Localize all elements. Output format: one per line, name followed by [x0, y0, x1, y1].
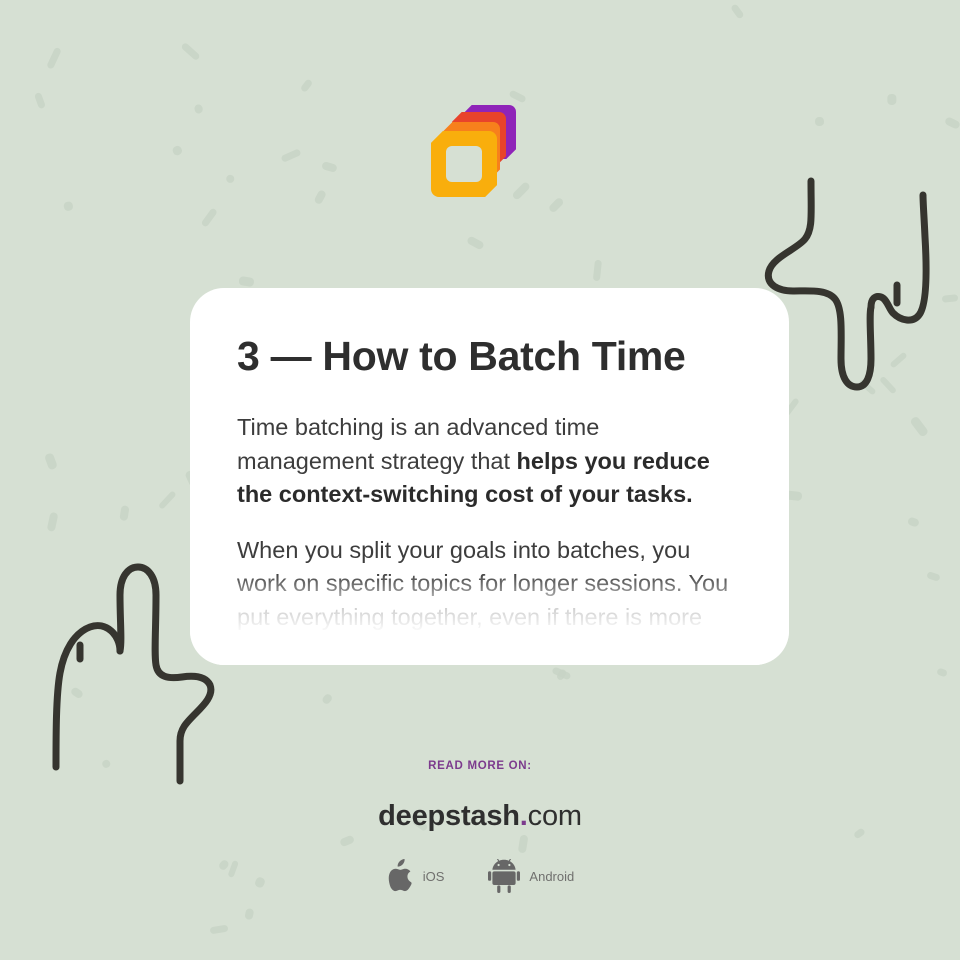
confetti-dash — [321, 161, 338, 172]
confetti-dash — [44, 452, 58, 470]
confetti-dash — [180, 42, 200, 61]
logo-inner-square — [446, 146, 482, 182]
confetti-dash — [201, 207, 218, 227]
paragraph-lead: Time batching is an advanced time manage… — [237, 411, 741, 512]
confetti-dash — [730, 3, 744, 19]
confetti-dash — [910, 415, 929, 437]
confetti-dash — [225, 174, 234, 184]
confetti-dash — [556, 668, 568, 681]
confetti-dash — [815, 117, 825, 126]
page-title: 3 — How to Batch Time — [237, 334, 741, 379]
confetti-dash — [593, 260, 602, 281]
confetti-dash — [926, 571, 941, 582]
confetti-dash — [238, 276, 254, 287]
confetti-dash — [300, 78, 314, 93]
deepstash-wordmark[interactable]: deepstash.com — [0, 802, 960, 831]
confetti-dash — [46, 47, 61, 69]
android-icon — [488, 859, 520, 893]
confetti-dash — [158, 490, 177, 510]
store-label-android: Android — [529, 869, 574, 884]
store-badge-android[interactable]: Android — [488, 859, 574, 893]
apple-icon — [386, 859, 414, 893]
confetti-dash — [194, 104, 204, 115]
confetti-dash — [64, 201, 74, 212]
footer: READ MORE ON: deepstash.com iOS Android — [0, 760, 960, 893]
store-label-ios: iOS — [423, 869, 445, 884]
read-more-label: READ MORE ON: — [0, 760, 960, 772]
deepstash-logo — [430, 105, 516, 197]
confetti-dash — [280, 148, 302, 163]
wordmark-dot: . — [520, 800, 528, 832]
confetti-dash — [244, 908, 254, 920]
confetti-dash — [936, 668, 948, 678]
confetti-dash — [34, 92, 46, 109]
confetti-dash — [887, 94, 896, 105]
confetti-dash — [944, 116, 960, 130]
confetti-dash — [508, 90, 527, 104]
wordmark-name: deepstash — [378, 800, 520, 832]
store-badges: iOS Android — [0, 859, 960, 893]
confetti-dash — [210, 925, 228, 934]
confetti-dash — [313, 189, 327, 205]
confetti-dash — [551, 666, 571, 680]
store-badge-ios[interactable]: iOS — [386, 859, 445, 893]
confetti-dash — [907, 516, 919, 527]
paragraph-body: When you split your goals into batches, … — [237, 534, 741, 665]
confetti-dash — [321, 692, 333, 705]
confetti-dash — [548, 196, 565, 213]
confetti-dash — [47, 512, 59, 532]
confetti-dash — [119, 505, 129, 521]
wordmark-tld: com — [528, 800, 582, 832]
confetti-dash — [466, 235, 485, 250]
confetti-dash — [171, 145, 183, 157]
idea-card: 3 — How to Batch Time Time batching is a… — [190, 288, 789, 665]
